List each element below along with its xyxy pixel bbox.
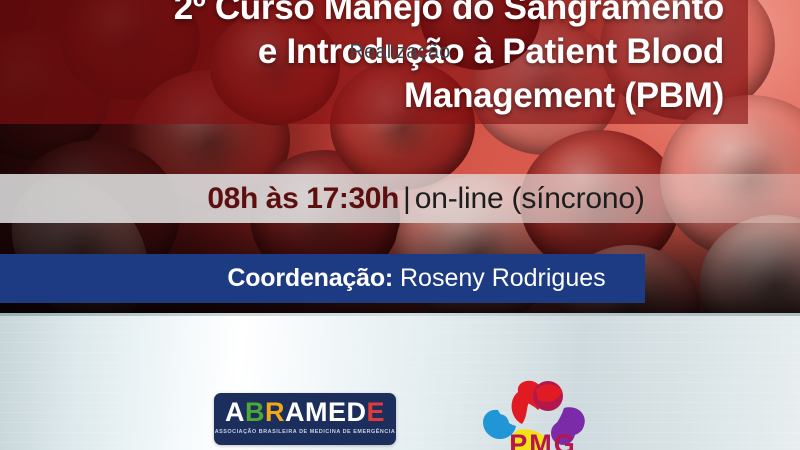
abramede-tagline: ASSOCIAÇÃO BRASILEIRA DE MEDICINA DE EME… xyxy=(214,429,396,435)
title-line-1: 2º Curso Manejo do Sangramento xyxy=(0,0,748,30)
footer-divider xyxy=(0,313,800,316)
event-poster: 2º Curso Manejo do Sangramento e Introdu… xyxy=(0,0,800,450)
coordination-band: Coordenação: Roseny Rodrigues xyxy=(0,254,645,303)
footer-section xyxy=(0,313,800,450)
coordination-text: Coordenação: Roseny Rodrigues xyxy=(227,266,605,291)
schedule-band: 08h às 17:30h|on-line (síncrono) xyxy=(0,174,800,223)
pbmg-logo[interactable]: PMG xyxy=(468,378,618,450)
footer-texture xyxy=(0,313,800,450)
pbmg-wordmark: PMG xyxy=(468,431,618,450)
schedule-text: 08h às 17:30h|on-line (síncrono) xyxy=(207,184,644,214)
abramede-wordmark: ABRAMEDE xyxy=(214,399,396,426)
title-line-3: Management (PBM) xyxy=(0,74,748,118)
schedule-format: on-line (síncrono) xyxy=(415,182,645,215)
coordination-name: Roseny Rodrigues xyxy=(400,264,606,292)
realizacao-label: Realização xyxy=(0,41,800,64)
schedule-separator: | xyxy=(399,182,415,215)
coordination-label: Coordenação: xyxy=(227,264,393,292)
schedule-time: 08h às 17:30h xyxy=(207,182,399,215)
abramede-logo[interactable]: ABRAMEDE ASSOCIAÇÃO BRASILEIRA DE MEDICI… xyxy=(214,393,396,445)
